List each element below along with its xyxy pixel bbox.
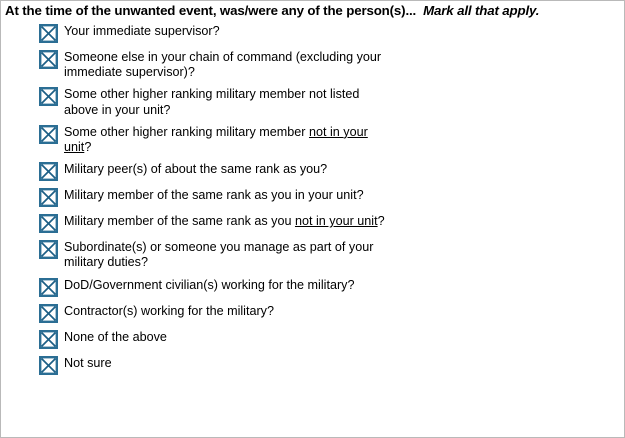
checkbox-option-row[interactable]: Contractor(s) working for the military?	[1, 301, 625, 323]
checkbox-x-icon[interactable]	[39, 240, 58, 259]
survey-question-page: At the time of the unwanted event, was/w…	[0, 0, 625, 438]
option-text: Military peer(s) of about the same rank …	[64, 162, 327, 176]
option-text: Your immediate supervisor?	[64, 24, 220, 38]
checkbox-x-icon[interactable]	[39, 356, 58, 375]
emphasis-underline-text: not in your unit	[295, 214, 378, 228]
checkbox-x-icon[interactable]	[39, 87, 58, 106]
checkbox-option-row[interactable]: Some other higher ranking military membe…	[1, 84, 625, 117]
checkbox-option-row[interactable]: Some other higher ranking military membe…	[1, 122, 625, 155]
checkbox-option-label: Some other higher ranking military membe…	[64, 84, 394, 117]
checkbox-x-icon[interactable]	[39, 50, 58, 69]
option-text: Subordinate(s) or someone you manage as …	[64, 240, 373, 269]
checkbox-option-label: Military member of the same rank as you …	[64, 185, 364, 203]
checkbox-x-icon[interactable]	[39, 214, 58, 233]
checkbox-option-label: Military member of the same rank as you …	[64, 211, 385, 229]
option-text: Some other higher ranking military membe…	[64, 87, 359, 116]
checkbox-x-icon[interactable]	[39, 24, 58, 43]
option-text: Not sure	[64, 356, 112, 370]
checkbox-option-label: Subordinate(s) or someone you manage as …	[64, 237, 394, 270]
checkbox-option-row[interactable]: Military member of the same rank as you …	[1, 211, 625, 233]
checkbox-option-label: Some other higher ranking military membe…	[64, 122, 394, 155]
option-text: ?	[378, 214, 385, 228]
checkbox-x-icon[interactable]	[39, 162, 58, 181]
checkbox-option-label: Someone else in your chain of command (e…	[64, 47, 394, 80]
option-text: Military member of the same rank as you	[64, 214, 295, 228]
question-stem: At the time of the unwanted event, was/w…	[5, 3, 416, 18]
checkbox-options-list: Your immediate supervisor?Someone else i…	[1, 21, 625, 379]
checkbox-x-icon[interactable]	[39, 125, 58, 144]
checkbox-option-row[interactable]: DoD/Government civilian(s) working for t…	[1, 275, 625, 297]
checkbox-option-row[interactable]: Military peer(s) of about the same rank …	[1, 159, 625, 181]
option-text: DoD/Government civilian(s) working for t…	[64, 278, 354, 292]
option-text: Some other higher ranking military membe…	[64, 125, 309, 139]
checkbox-option-label: Your immediate supervisor?	[64, 21, 220, 39]
option-text: None of the above	[64, 330, 167, 344]
checkbox-option-row[interactable]: Military member of the same rank as you …	[1, 185, 625, 207]
checkbox-option-label: Not sure	[64, 353, 112, 371]
checkbox-option-row[interactable]: None of the above	[1, 327, 625, 349]
checkbox-option-row[interactable]: Your immediate supervisor?	[1, 21, 625, 43]
option-text: Military member of the same rank as you …	[64, 188, 364, 202]
checkbox-option-row[interactable]: Not sure	[1, 353, 625, 375]
option-text: Contractor(s) working for the military?	[64, 304, 274, 318]
mark-all-that-apply-instruction: Mark all that apply.	[423, 3, 539, 18]
checkbox-option-label: None of the above	[64, 327, 167, 345]
checkbox-x-icon[interactable]	[39, 188, 58, 207]
checkbox-option-label: DoD/Government civilian(s) working for t…	[64, 275, 354, 293]
option-text: ?	[84, 140, 91, 154]
checkbox-x-icon[interactable]	[39, 330, 58, 349]
checkbox-option-row[interactable]: Subordinate(s) or someone you manage as …	[1, 237, 625, 270]
checkbox-option-label: Contractor(s) working for the military?	[64, 301, 274, 319]
checkbox-x-icon[interactable]	[39, 304, 58, 323]
checkbox-option-label: Military peer(s) of about the same rank …	[64, 159, 327, 177]
page-title: At the time of the unwanted event, was/w…	[5, 3, 623, 18]
checkbox-x-icon[interactable]	[39, 278, 58, 297]
option-text: Someone else in your chain of command (e…	[64, 50, 381, 79]
checkbox-option-row[interactable]: Someone else in your chain of command (e…	[1, 47, 625, 80]
